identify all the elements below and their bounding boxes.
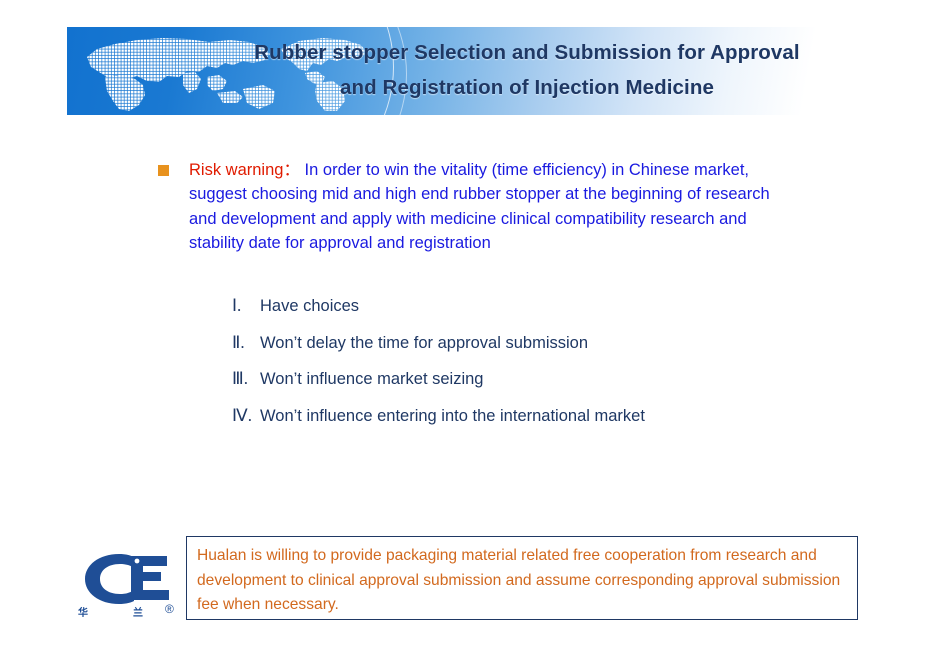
risk-warning-block: Risk warning： In order to win the vitali… [158,158,778,255]
benefits-list: Ⅰ.Have choices Ⅱ.Won’t delay the time fo… [232,296,892,442]
list-item-label: Have choices [260,297,359,315]
list-item-label: Won’t delay the time for approval submis… [260,334,588,352]
list-item: Ⅳ.Won’t influence entering into the inte… [232,406,892,443]
list-item: Ⅲ.Won’t influence market seizing [232,369,892,406]
list-item-label: Won’t influence entering into the intern… [260,407,645,425]
page-title-line-1: Rubber stopper Selection and Submission … [254,41,799,64]
slide-header-banner: Rubber stopper Selection and Submission … [67,27,858,115]
list-item-numeral: Ⅱ. [232,333,260,353]
orange-square-bullet-icon [158,165,169,176]
risk-warning-label: Risk warning [189,161,283,179]
risk-warning-colon: ： [283,161,300,179]
logo-chinese-char-right: 兰 [133,604,143,619]
list-item: Ⅱ.Won’t delay the time for approval subm… [232,333,892,370]
registered-trademark-icon: ® [165,602,174,616]
risk-warning-text: Risk warning： In order to win the vitali… [189,158,778,255]
list-item-label: Won’t influence market seizing [260,370,483,388]
list-item-numeral: Ⅳ. [232,406,260,426]
list-item-numeral: Ⅰ. [232,296,260,316]
company-logo: 华 兰 ® [75,548,185,624]
callout-text: Hualan is willing to provide packaging m… [197,544,847,618]
logo-chinese-char-left: 华 [78,604,88,619]
page-title-line-2: and Registration of Injection Medicine [217,70,837,105]
page-title: Rubber stopper Selection and Submission … [217,35,837,105]
hualan-c-logo-icon [75,548,175,613]
callout-box: Hualan is willing to provide packaging m… [186,536,858,620]
list-item-numeral: Ⅲ. [232,369,260,389]
list-item: Ⅰ.Have choices [232,296,892,333]
